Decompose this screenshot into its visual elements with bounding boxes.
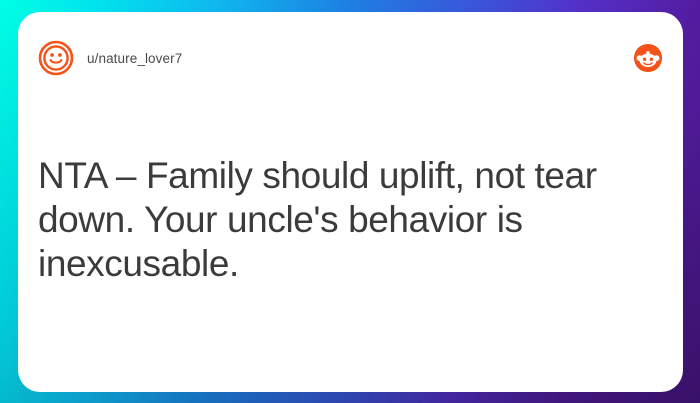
reddit-snoo-icon[interactable] xyxy=(633,43,663,73)
username-label: u/nature_lover7 xyxy=(87,51,182,66)
post-text: NTA – Family should uplift, not tear dow… xyxy=(38,154,645,286)
smiley-face-avatar-icon xyxy=(38,40,74,76)
screenshot-stage: u/nature_lover7 NTA – Family should upli… xyxy=(0,0,700,403)
reddit-quote-card: u/nature_lover7 NTA – Family should upli… xyxy=(18,12,683,392)
card-header: u/nature_lover7 xyxy=(38,38,663,78)
avatar[interactable] xyxy=(38,40,74,76)
card-body: NTA – Family should uplift, not tear dow… xyxy=(38,154,645,286)
